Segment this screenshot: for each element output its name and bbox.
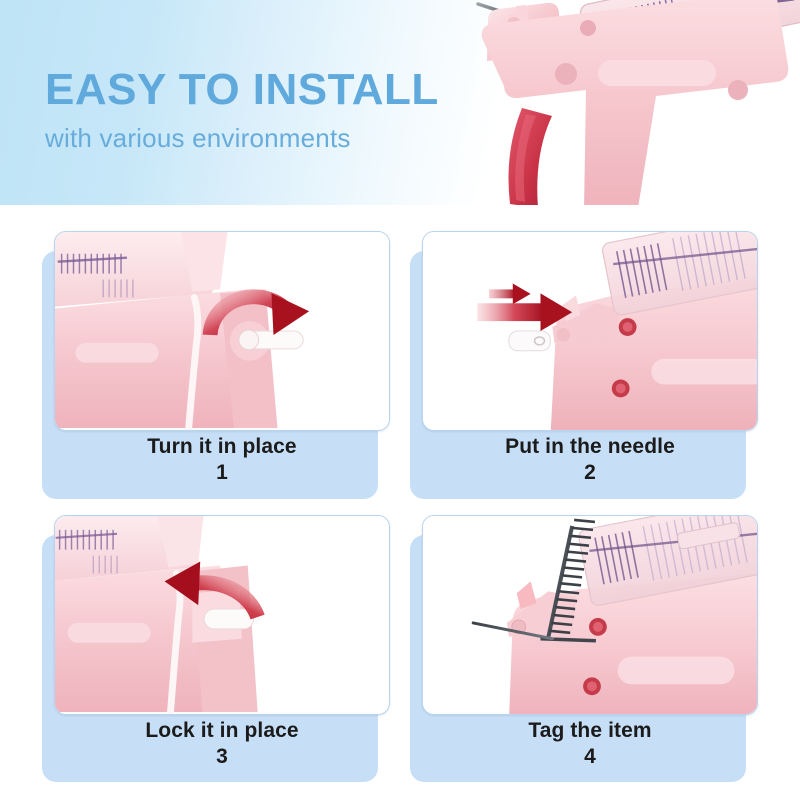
- step-card-4[interactable]: Tag the item 4: [408, 513, 760, 787]
- step-label: Put in the needle: [422, 435, 758, 459]
- step-label: Turn it in place: [54, 435, 390, 459]
- page-subtitle: with various environments: [45, 123, 439, 154]
- step-photo-1: [54, 231, 390, 431]
- step-number: 4: [422, 744, 758, 769]
- tag-gun-icon: [470, 0, 800, 205]
- page-title: EASY TO INSTALL: [45, 68, 439, 112]
- step-photo-3: [54, 515, 390, 715]
- steps-grid: Turn it in place 1: [0, 205, 800, 800]
- step-number: 3: [54, 744, 390, 769]
- step-number: 1: [54, 460, 390, 485]
- infographic-page: EASY TO INSTALL with various environment…: [0, 0, 800, 800]
- step-label: Tag the item: [422, 719, 758, 743]
- tagging-illustration: [423, 516, 757, 714]
- needle-insert-illustration: [423, 232, 757, 430]
- step-card-1[interactable]: Turn it in place 1: [40, 229, 392, 503]
- step-caption-4: Tag the item 4: [422, 719, 758, 769]
- step-caption-2: Put in the needle 2: [422, 435, 758, 485]
- knob-lock-illustration: [55, 516, 389, 714]
- step-card-3[interactable]: Lock it in place 3: [40, 513, 392, 787]
- step-caption-1: Turn it in place 1: [54, 435, 390, 485]
- step-photo-4: [422, 515, 758, 715]
- hero-banner: EASY TO INSTALL with various environment…: [0, 0, 800, 205]
- step-caption-3: Lock it in place 3: [54, 719, 390, 769]
- step-label: Lock it in place: [54, 719, 390, 743]
- hero-text-block: EASY TO INSTALL with various environment…: [45, 68, 439, 154]
- step-photo-2: [422, 231, 758, 431]
- knob-turn-illustration: [55, 232, 389, 430]
- step-number: 2: [422, 460, 758, 485]
- step-card-2[interactable]: Put in the needle 2: [408, 229, 760, 503]
